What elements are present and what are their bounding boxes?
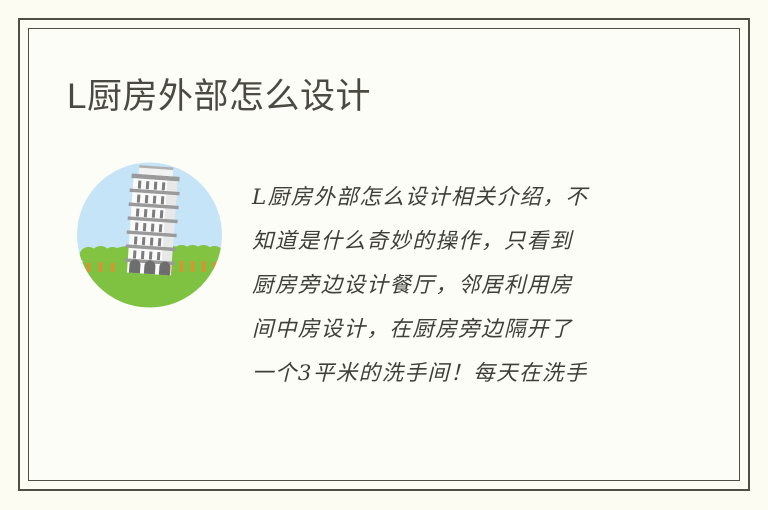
article-card: L厨房外部怎么设计 bbox=[18, 18, 750, 491]
body-line: 间中房设计，在厨房旁边隔开了 bbox=[252, 308, 707, 352]
article-inner-frame: L厨房外部怎么设计 bbox=[28, 28, 740, 481]
page-title: L厨房外部怎么设计 bbox=[67, 77, 371, 117]
pisa-tower-icon bbox=[77, 162, 222, 308]
body-line: 一个3平米的洗手间！每天在洗手 bbox=[252, 352, 707, 396]
body-line: 知道是什么奇妙的操作，只看到 bbox=[252, 220, 707, 264]
article-content-row: L厨房外部怎么设计相关介绍，不 知道是什么奇妙的操作，只看到 厨房旁边设计餐厅，… bbox=[59, 144, 715, 460]
article-body-text: L厨房外部怎么设计相关介绍，不 知道是什么奇妙的操作，只看到 厨房旁边设计餐厅，… bbox=[252, 176, 707, 396]
pisa-tower-illustration bbox=[77, 162, 222, 308]
body-line: 厨房旁边设计餐厅，邻居利用房 bbox=[252, 264, 707, 308]
body-line: L厨房外部怎么设计相关介绍，不 bbox=[252, 176, 707, 220]
